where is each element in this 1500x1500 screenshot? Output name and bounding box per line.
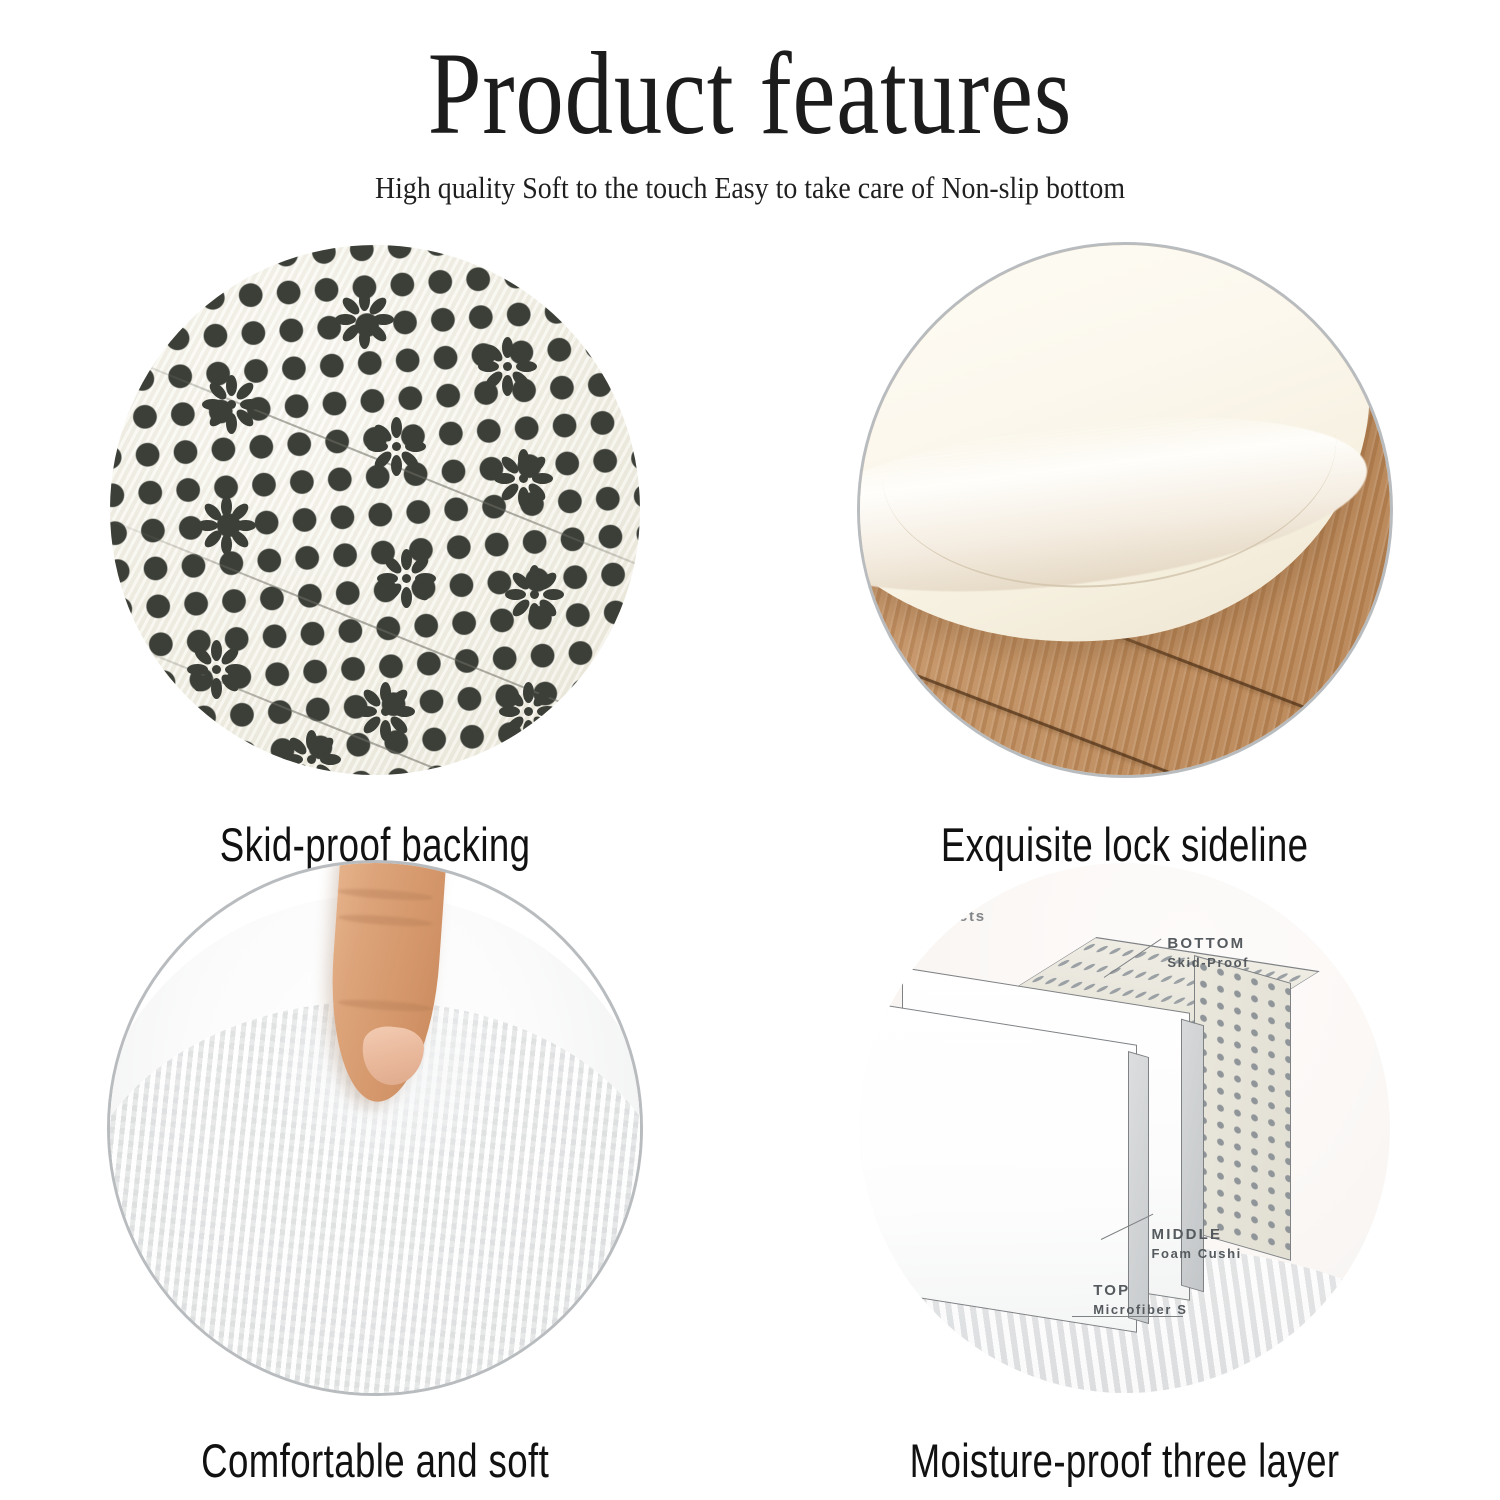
page-header: Product features High quality Soft to th… (0, 0, 1500, 206)
callout-middle: MIDDLE Foam Cushi (1152, 1226, 1242, 1261)
feature-exquisite-lock-sideline: Exquisite lock sideline (750, 245, 1500, 863)
diagram-watermark: roducts (918, 908, 986, 925)
callout-top: TOP Microfiber S (1093, 1282, 1187, 1317)
backing-flower-icon (349, 674, 423, 748)
moisture-proof-three-layer-image: roducts BOTTOM Skid-Proof MIDDLE Foam Cu… (860, 863, 1390, 1393)
callout-bottom-title: BOTTOM (1167, 935, 1249, 952)
layer-bottom-skid-proof-face (1194, 955, 1291, 1261)
feature-moisture-proof-three-layer: roducts BOTTOM Skid-Proof MIDDLE Foam Cu… (750, 863, 1500, 1481)
backing-flower-icon (327, 282, 401, 356)
backing-flower-icon (195, 367, 269, 441)
feature-skid-proof-backing: Skid-proof backing (0, 245, 750, 863)
backing-flower-icon (359, 409, 433, 483)
callout-top-subtitle: Microfiber S (1093, 1302, 1187, 1317)
backing-flower-icon (190, 489, 264, 563)
backing-flower-icon (497, 558, 571, 632)
page-title: Product features (135, 34, 1365, 154)
callout-top-title: TOP (1093, 1282, 1187, 1299)
feature-caption-comfortable-and-soft: Comfortable and soft (201, 1433, 549, 1488)
exquisite-lock-sideline-image (860, 245, 1390, 775)
skid-proof-backing-image (110, 245, 640, 775)
backing-flower-icon (492, 674, 566, 748)
feature-caption-moisture-proof-three-layer: Moisture-proof three layer (910, 1433, 1340, 1488)
callout-middle-subtitle: Foam Cushi (1152, 1246, 1242, 1261)
callout-bottom: BOTTOM Skid-Proof (1167, 935, 1249, 970)
page-subtitle: High quality Soft to the touch Easy to t… (75, 170, 1425, 206)
feature-comfortable-and-soft: Comfortable and soft (0, 863, 750, 1481)
backing-flower-icon (486, 441, 560, 515)
features-grid: Skid-proof backing Exquisite lock sideli… (0, 245, 1500, 1481)
callout-middle-title: MIDDLE (1152, 1226, 1242, 1243)
backing-flower-icon (471, 330, 545, 404)
backing-flower-icon (370, 542, 444, 616)
comfortable-and-soft-image (110, 863, 640, 1393)
backing-flower-icon (274, 722, 348, 775)
callout-bottom-subtitle: Skid-Proof (1167, 955, 1249, 970)
backing-flower-icon (179, 632, 253, 706)
